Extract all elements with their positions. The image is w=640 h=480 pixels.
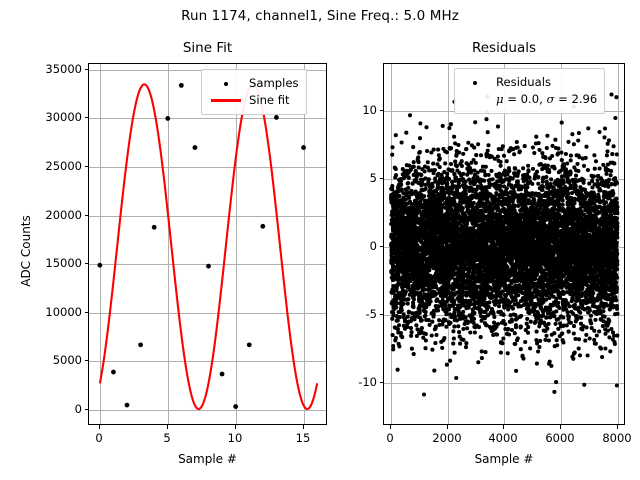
residual-point — [500, 341, 504, 345]
xtick-label: 0 — [95, 431, 102, 445]
residual-point — [432, 312, 436, 316]
residual-point — [505, 186, 509, 190]
residual-point — [516, 336, 520, 340]
ytick-label: 5000 — [0, 353, 82, 367]
xtick-mark — [303, 425, 304, 429]
residual-point — [455, 164, 459, 168]
residual-point — [407, 196, 411, 200]
residual-point — [450, 168, 454, 172]
residual-point — [507, 169, 511, 173]
residual-point — [412, 160, 416, 164]
residual-point — [443, 161, 447, 165]
residuals-axes: Residuals μ = 0.0, σ = 2.96 — [383, 63, 625, 425]
residual-point — [521, 166, 525, 170]
residual-point — [506, 351, 510, 355]
residual-point — [405, 325, 409, 329]
residual-points-group — [389, 92, 620, 396]
residual-point — [527, 175, 531, 179]
residual-point — [396, 318, 400, 322]
residual-point — [513, 331, 517, 335]
residual-point — [430, 348, 434, 352]
ytick-mark — [85, 263, 89, 264]
residual-point — [391, 347, 395, 351]
residual-point — [394, 167, 398, 171]
residuals-plot-title: Residuals — [383, 40, 625, 56]
ytick-mark — [85, 215, 89, 216]
residual-point — [487, 305, 491, 309]
residual-point — [440, 346, 444, 350]
residual-point — [434, 324, 438, 328]
residual-point — [472, 201, 476, 205]
residual-point — [511, 307, 515, 311]
residual-point — [410, 347, 414, 351]
residual-point — [525, 317, 529, 321]
residual-point — [412, 352, 416, 356]
residual-point — [497, 304, 501, 308]
residual-point — [427, 268, 431, 272]
residual-point — [474, 153, 478, 157]
residual-point — [445, 150, 449, 154]
residual-point — [461, 172, 465, 176]
residual-point — [427, 318, 431, 322]
residual-point — [397, 323, 401, 327]
sine-xaxis-label: Sample # — [88, 452, 327, 466]
residual-point — [496, 322, 500, 326]
residual-point — [406, 302, 410, 306]
residual-point — [528, 346, 532, 350]
residual-point — [502, 154, 506, 158]
residual-point — [526, 164, 530, 168]
residual-point — [487, 173, 491, 177]
residual-point — [418, 309, 422, 313]
residual-point — [502, 313, 506, 317]
residual-point — [472, 146, 476, 150]
residual-point — [483, 350, 487, 354]
ytick-label: 25000 — [0, 159, 82, 173]
ytick-label: 0 — [0, 402, 82, 416]
residual-point — [451, 342, 455, 346]
residual-point — [460, 159, 464, 163]
residual-point — [419, 173, 423, 177]
residual-point — [412, 297, 416, 301]
residual-point — [501, 289, 505, 293]
residual-point — [434, 284, 438, 288]
residual-point — [464, 192, 468, 196]
residual-point — [391, 333, 395, 337]
residual-point — [399, 182, 403, 186]
residual-point — [516, 179, 520, 183]
residual-point — [420, 326, 424, 330]
residual-point — [474, 161, 478, 165]
residual-point — [437, 318, 441, 322]
legend-label-samples: Samples — [243, 75, 299, 92]
residual-point — [523, 340, 527, 344]
residual-point — [477, 325, 481, 329]
residual-point — [461, 310, 465, 314]
residual-point — [492, 315, 496, 319]
residual-point — [519, 314, 523, 318]
xtick-mark — [167, 425, 168, 429]
residual-point — [473, 120, 477, 124]
residual-point — [516, 204, 520, 208]
residual-point — [526, 331, 530, 335]
residual-point — [406, 181, 410, 185]
residual-point — [447, 126, 451, 130]
residual-point — [456, 324, 460, 328]
residual-point — [411, 145, 415, 149]
residual-point — [438, 157, 442, 161]
residual-point — [444, 312, 448, 316]
residual-point — [486, 130, 490, 134]
residual-point — [521, 357, 525, 361]
residual-point — [465, 326, 469, 330]
residual-point — [414, 323, 418, 327]
residual-point — [496, 155, 500, 159]
residual-point — [510, 319, 514, 323]
ytick-label: 10000 — [0, 305, 82, 319]
residual-point — [513, 167, 517, 171]
residual-point — [406, 315, 410, 319]
residual-point — [416, 155, 420, 159]
residual-point — [394, 173, 398, 177]
residual-point — [454, 376, 458, 380]
residual-point — [427, 177, 431, 181]
residual-point — [523, 144, 527, 148]
residual-point — [484, 242, 488, 246]
residual-point — [452, 299, 456, 303]
residual-point — [396, 368, 400, 372]
residual-point — [411, 305, 415, 309]
residual-point — [516, 145, 520, 149]
residual-point — [479, 153, 483, 157]
residual-point — [401, 302, 405, 306]
xtick-mark — [235, 425, 236, 429]
residual-point — [466, 321, 470, 325]
xtick-mark — [99, 425, 100, 429]
residual-point — [487, 300, 491, 304]
residual-point — [501, 336, 505, 340]
residual-point — [472, 317, 476, 321]
samples-marker-icon — [209, 82, 243, 86]
xtick-label: 15 — [296, 431, 311, 445]
ytick-label: 15000 — [0, 256, 82, 270]
residual-point — [409, 326, 413, 330]
sample-point — [125, 403, 130, 408]
residual-point — [397, 194, 401, 198]
residual-point — [430, 333, 434, 337]
sample-point — [301, 145, 306, 150]
ytick-mark — [85, 69, 89, 70]
residual-point — [424, 310, 428, 314]
residual-point — [443, 318, 447, 322]
residual-point — [452, 135, 456, 139]
residual-point — [461, 206, 465, 210]
residual-point — [448, 359, 452, 363]
residual-point — [515, 140, 519, 144]
residual-point — [431, 162, 435, 166]
residual-point — [498, 184, 502, 188]
residual-point — [400, 140, 404, 144]
residual-point — [420, 318, 424, 322]
residual-point — [390, 145, 394, 149]
residual-point — [512, 152, 516, 156]
residual-point — [424, 332, 428, 336]
residual-point — [510, 328, 514, 332]
residual-point — [473, 330, 477, 334]
residual-point — [394, 336, 398, 340]
residual-point — [449, 146, 453, 150]
ytick-mark — [85, 117, 89, 118]
residual-point — [390, 184, 394, 188]
sample-point — [206, 264, 211, 269]
residual-point — [407, 164, 411, 168]
residual-point — [472, 311, 476, 315]
residual-point — [499, 160, 503, 164]
residual-point — [461, 327, 465, 331]
ytick-label: 30000 — [0, 110, 82, 124]
xtick-label: 5 — [163, 431, 170, 445]
residual-point — [438, 165, 442, 169]
residual-point — [461, 152, 465, 156]
residual-point — [526, 325, 530, 329]
sample-point — [233, 404, 238, 409]
residual-point — [476, 360, 480, 364]
residual-point — [417, 160, 421, 164]
residual-point — [406, 283, 410, 287]
residual-point — [424, 187, 428, 191]
residual-point — [507, 332, 511, 336]
sample-point — [220, 372, 225, 377]
xtick-label: 10 — [228, 431, 243, 445]
residual-point — [457, 330, 461, 334]
residual-point — [441, 124, 445, 128]
residual-point — [514, 369, 518, 373]
residual-point — [464, 315, 468, 319]
residual-point — [518, 149, 522, 153]
residual-point — [526, 169, 530, 173]
legend-entry-samples: Samples — [209, 75, 299, 92]
residual-point — [448, 321, 452, 325]
residual-point — [453, 160, 457, 164]
sample-point — [111, 370, 116, 375]
residual-point — [424, 125, 428, 129]
figure-suptitle: Run 1174, channel1, Sine Freq.: 5.0 MHz — [0, 8, 640, 24]
sine-fit-line-icon — [209, 99, 243, 101]
residual-point — [479, 335, 483, 339]
residual-point — [461, 293, 465, 297]
residual-point — [480, 349, 484, 353]
residual-point — [422, 194, 426, 198]
residual-point — [460, 164, 464, 168]
residual-point — [464, 341, 468, 345]
residual-point — [449, 162, 453, 166]
residual-point — [404, 131, 408, 135]
residual-point — [451, 329, 455, 333]
residual-point — [423, 169, 427, 173]
residual-point — [484, 165, 488, 169]
residual-point — [456, 143, 460, 147]
residual-point — [489, 169, 493, 173]
residual-point — [516, 293, 520, 297]
residual-point — [496, 124, 500, 128]
sample-point — [260, 224, 265, 229]
ytick-mark — [85, 312, 89, 313]
residual-point — [464, 147, 468, 151]
residual-point — [426, 160, 430, 164]
residual-point — [432, 148, 436, 152]
residual-point — [407, 176, 411, 180]
residual-point — [439, 209, 443, 213]
residual-point — [429, 299, 433, 303]
residual-point — [506, 327, 510, 331]
residual-point — [463, 180, 467, 184]
residual-point — [404, 290, 408, 294]
residual-point — [513, 342, 517, 346]
residual-point — [445, 172, 449, 176]
residual-point — [465, 222, 469, 226]
residual-point — [424, 338, 428, 342]
residual-point — [400, 308, 404, 312]
residual-point — [409, 334, 413, 338]
residual-point — [436, 148, 440, 152]
sample-point — [97, 263, 102, 268]
residual-point — [436, 308, 440, 312]
residual-point — [434, 292, 438, 296]
residual-point — [447, 177, 451, 181]
residual-point — [431, 185, 435, 189]
sample-point — [165, 116, 170, 121]
residual-point — [445, 363, 449, 367]
residual-point — [433, 168, 437, 172]
residual-point — [503, 322, 507, 326]
ytick-label: 35000 — [0, 62, 82, 76]
legend-entry-sine-fit: Sine fit — [209, 92, 299, 109]
residual-point — [406, 186, 410, 190]
residual-point — [400, 335, 404, 339]
residual-point — [525, 185, 529, 189]
sample-point — [179, 83, 184, 88]
matplotlib-figure: Run 1174, channel1, Sine Freq.: 5.0 MHz … — [0, 0, 640, 480]
residual-point — [519, 324, 523, 328]
residual-point — [461, 338, 465, 342]
residual-point — [514, 323, 518, 327]
residual-point — [445, 182, 449, 186]
ytick-mark — [85, 360, 89, 361]
ytick-mark — [85, 166, 89, 167]
sample-points-group — [97, 83, 306, 409]
residual-point — [430, 320, 434, 324]
ytick-label: 20000 — [0, 208, 82, 222]
residual-point — [452, 336, 456, 340]
residual-point — [480, 356, 484, 360]
residual-point — [505, 265, 509, 269]
residual-point — [398, 315, 402, 319]
residual-point — [449, 122, 453, 126]
residual-point — [476, 142, 480, 146]
residuals-plot-area — [384, 64, 625, 425]
sample-point — [193, 145, 198, 150]
legend-label-sine-fit: Sine fit — [243, 92, 290, 109]
residual-point — [457, 150, 461, 154]
residual-point — [418, 136, 422, 140]
residual-point — [428, 323, 432, 327]
sample-point — [152, 225, 157, 230]
residual-point — [491, 177, 495, 181]
residual-point — [486, 143, 490, 147]
residual-point — [458, 342, 462, 346]
residual-point — [457, 185, 461, 189]
residual-point — [394, 305, 398, 309]
residual-point — [452, 302, 456, 306]
residual-point — [517, 169, 521, 173]
residual-point — [505, 159, 509, 163]
residual-point — [452, 325, 456, 329]
residual-point — [417, 165, 421, 169]
residual-point — [464, 345, 468, 349]
ytick-mark — [85, 409, 89, 410]
residual-point — [418, 121, 422, 125]
residual-point — [412, 165, 416, 169]
residual-point — [418, 150, 422, 154]
sine-plot-title: Sine Fit — [88, 40, 327, 56]
sine-yaxis-label: ADC Counts — [19, 171, 33, 331]
sample-point — [138, 342, 143, 347]
residual-point — [495, 333, 499, 337]
sample-point — [274, 115, 279, 120]
residual-point — [466, 141, 470, 145]
residual-point — [390, 153, 394, 157]
residual-point — [423, 313, 427, 317]
residual-point — [432, 369, 436, 373]
residual-point — [433, 341, 437, 345]
residual-point — [423, 346, 427, 350]
residual-point — [397, 344, 401, 348]
residual-point — [499, 164, 503, 168]
residual-point — [519, 347, 523, 351]
residual-point — [410, 202, 414, 206]
residual-point — [482, 179, 486, 183]
residual-point — [486, 149, 490, 153]
residual-point — [442, 336, 446, 340]
sample-point — [247, 342, 252, 347]
residual-point — [410, 330, 414, 334]
residual-point — [468, 330, 472, 334]
residual-point — [425, 149, 429, 153]
residual-point — [408, 113, 412, 117]
residual-point — [422, 392, 426, 396]
residual-point — [484, 117, 488, 121]
residual-point — [434, 333, 438, 337]
residual-point — [453, 351, 457, 355]
residual-point — [452, 311, 456, 315]
sine-legend: Samples Sine fit — [201, 69, 307, 115]
residual-point — [499, 351, 503, 355]
residual-point — [394, 133, 398, 137]
residual-point — [406, 297, 410, 301]
residual-point — [501, 144, 505, 148]
